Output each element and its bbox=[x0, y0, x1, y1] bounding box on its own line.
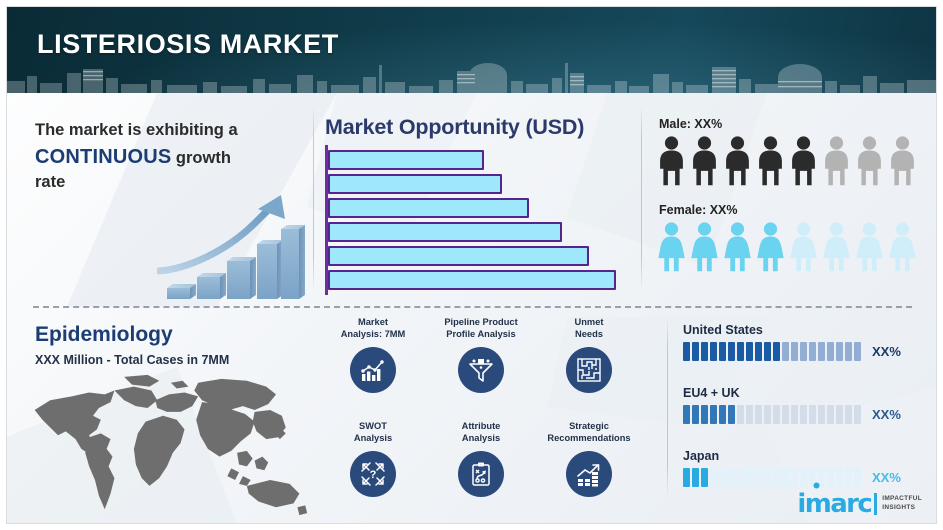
region-japan: JapanXX% bbox=[683, 449, 933, 487]
bar-segment bbox=[827, 405, 834, 424]
region-name: Japan bbox=[683, 449, 933, 463]
female-pictogram-row bbox=[655, 221, 919, 273]
bar-segment bbox=[755, 468, 762, 487]
bar-segment bbox=[764, 468, 771, 487]
male-figure-icon bbox=[787, 135, 820, 187]
service-unmet-needs[interactable]: UnmetNeeds bbox=[535, 317, 643, 393]
bar-segment bbox=[764, 342, 771, 361]
clipboard-strategy-icon bbox=[458, 451, 504, 497]
region-bars-group: United StatesXX%EU4 + UKXX%JapanXX% bbox=[683, 323, 933, 513]
bar-segment bbox=[746, 405, 753, 424]
segmented-bar bbox=[683, 468, 861, 487]
bar-segment bbox=[701, 468, 708, 487]
bar-segment bbox=[854, 342, 861, 361]
bar-segment bbox=[746, 342, 753, 361]
bar-segment bbox=[728, 342, 735, 361]
region-name: United States bbox=[683, 323, 933, 337]
bar-segment bbox=[782, 405, 789, 424]
lower-section: Epidemiology XXX Million - Total Cases i… bbox=[7, 309, 937, 524]
bar-segment bbox=[692, 405, 699, 424]
male-figure-icon bbox=[853, 135, 886, 187]
male-label: Male: XX% bbox=[659, 117, 722, 131]
bar-segment bbox=[737, 405, 744, 424]
service-label-line2: Analysis bbox=[462, 433, 500, 443]
female-figure-icon bbox=[655, 221, 688, 273]
bar-segment bbox=[791, 405, 798, 424]
service-swot-analysis[interactable]: SWOTAnalysis bbox=[319, 421, 427, 497]
bar-segment bbox=[692, 468, 699, 487]
service-label-line1: SWOT bbox=[359, 421, 387, 431]
logo-tagline-line1: IMPACTFUL bbox=[882, 495, 922, 502]
region-percent: XX% bbox=[872, 470, 901, 485]
bar-segment bbox=[773, 405, 780, 424]
bar-segment bbox=[773, 342, 780, 361]
female-figure-icon bbox=[688, 221, 721, 273]
bar-segment bbox=[818, 342, 825, 361]
service-label-line2: Profile Analysis bbox=[446, 329, 515, 339]
bar-segment bbox=[845, 468, 852, 487]
female-figure-icon bbox=[820, 221, 853, 273]
region-bar-row: XX% bbox=[683, 468, 933, 487]
bar-segment bbox=[719, 468, 726, 487]
male-figure-icon bbox=[754, 135, 787, 187]
funnel-icon bbox=[458, 347, 504, 393]
bar-segment bbox=[737, 342, 744, 361]
service-market-analysis[interactable]: MarketAnalysis: 7MM bbox=[319, 317, 427, 393]
female-label: Female: XX% bbox=[659, 203, 738, 217]
logo-tagline: IMPACTFUL INSIGHTS bbox=[882, 495, 922, 513]
tagline-line1: The market is exhibiting a bbox=[35, 121, 238, 139]
bar-segment bbox=[683, 405, 690, 424]
header-banner: LISTERIOSIS MARKET bbox=[7, 7, 937, 93]
female-figure-icon bbox=[853, 221, 886, 273]
tagline-line2: rate bbox=[35, 173, 65, 191]
region-name: EU4 + UK bbox=[683, 386, 933, 400]
chart-bar bbox=[328, 174, 502, 194]
upper-divider-2 bbox=[641, 105, 642, 291]
bar-segment bbox=[845, 342, 852, 361]
bar-segment bbox=[854, 468, 861, 487]
bar-segment bbox=[728, 405, 735, 424]
female-figure-icon bbox=[721, 221, 754, 273]
chart-bar bbox=[328, 198, 529, 218]
upper-section: The market is exhibiting a CONTINUOUS gr… bbox=[7, 93, 937, 306]
service-label-line1: Attribute bbox=[462, 421, 501, 431]
bar-segment bbox=[836, 342, 843, 361]
bar-segment bbox=[737, 468, 744, 487]
female-figure-icon bbox=[886, 221, 919, 273]
bar-segment bbox=[692, 342, 699, 361]
logo-wordmark: imarc bbox=[797, 491, 871, 517]
bar-segment bbox=[719, 342, 726, 361]
service-attribute-analysis[interactable]: AttributeAnalysis bbox=[427, 421, 535, 497]
svg-text:?: ? bbox=[370, 469, 377, 481]
bar-segment bbox=[818, 405, 825, 424]
bar-segment bbox=[800, 468, 807, 487]
bar-segment bbox=[710, 405, 717, 424]
bar-segment bbox=[800, 405, 807, 424]
bar-segment bbox=[827, 468, 834, 487]
infographic-page: LISTERIOSIS MARKET The market is exhibit… bbox=[0, 0, 943, 530]
bar-segment bbox=[782, 342, 789, 361]
market-opportunity-title: Market Opportunity (USD) bbox=[325, 115, 584, 140]
bar-segment bbox=[791, 342, 798, 361]
epidemiology-title: Epidemiology bbox=[35, 323, 173, 347]
region-bar-row: XX% bbox=[683, 342, 933, 361]
service-label-line2: Recommendations bbox=[547, 433, 630, 443]
market-opportunity-chart bbox=[325, 145, 625, 295]
region-eu4-uk: EU4 + UKXX% bbox=[683, 386, 933, 424]
lower-divider-1 bbox=[667, 317, 668, 497]
chart-bar bbox=[328, 150, 484, 170]
bar-segment bbox=[755, 342, 762, 361]
female-figure-icon bbox=[787, 221, 820, 273]
growth-chart-3d-icon bbox=[157, 189, 307, 301]
male-figure-icon bbox=[655, 135, 688, 187]
bar-segment bbox=[683, 342, 690, 361]
service-label-line1: Pipeline Product bbox=[444, 317, 517, 327]
chart-bar bbox=[328, 246, 589, 266]
chart-bar bbox=[328, 270, 616, 290]
bar-segment bbox=[710, 342, 717, 361]
infographic-card: LISTERIOSIS MARKET The market is exhibit… bbox=[6, 6, 937, 524]
bar-segment bbox=[800, 342, 807, 361]
segmented-bar bbox=[683, 405, 861, 424]
bar-segment bbox=[827, 342, 834, 361]
region-percent: XX% bbox=[872, 344, 901, 359]
bar-segment bbox=[836, 468, 843, 487]
region-bar-row: XX% bbox=[683, 405, 933, 424]
imarc-logo: imarc IMPACTFUL INSIGHTS bbox=[797, 491, 922, 517]
male-pictogram-row bbox=[655, 135, 919, 187]
bar-segment bbox=[746, 468, 753, 487]
tagline-line1b: growth bbox=[176, 149, 231, 167]
service-label-line2: Analysis bbox=[354, 433, 392, 443]
epidemiology-subtitle: XXX Million - Total Cases in 7MM bbox=[35, 353, 229, 367]
bar-segment bbox=[809, 342, 816, 361]
swot-arrows-icon: ? bbox=[350, 451, 396, 497]
male-figure-icon bbox=[721, 135, 754, 187]
bar-segment bbox=[782, 468, 789, 487]
service-pipeline-product-profile[interactable]: Pipeline ProductProfile Analysis bbox=[427, 317, 535, 393]
logo-tagline-line2: INSIGHTS bbox=[882, 504, 915, 511]
service-label-line1: Unmet bbox=[575, 317, 604, 327]
service-label-line2: Analysis: 7MM bbox=[341, 329, 406, 339]
bar-segment bbox=[728, 468, 735, 487]
male-figure-icon bbox=[688, 135, 721, 187]
segmented-bar bbox=[683, 342, 861, 361]
tagline-block: The market is exhibiting a CONTINUOUS gr… bbox=[35, 119, 295, 195]
maze-icon bbox=[566, 347, 612, 393]
bar-segment bbox=[773, 468, 780, 487]
logo-dot-icon bbox=[813, 482, 820, 489]
bar-segment bbox=[683, 468, 690, 487]
logo-divider-bar bbox=[874, 493, 877, 515]
world-map-icon bbox=[21, 371, 313, 519]
growth-chart-arrow-icon bbox=[566, 451, 612, 497]
bar-segment bbox=[809, 405, 816, 424]
bar-segment bbox=[755, 405, 762, 424]
service-strategic-recommendations[interactable]: StrategicRecommendations bbox=[535, 421, 643, 497]
region-united-states: United StatesXX% bbox=[683, 323, 933, 361]
bar-segment bbox=[710, 468, 717, 487]
bar-segment bbox=[701, 405, 708, 424]
bar-segment bbox=[854, 405, 861, 424]
female-figure-icon bbox=[754, 221, 787, 273]
bar-segment bbox=[764, 405, 771, 424]
male-figure-icon bbox=[886, 135, 919, 187]
bar-chart-trend-icon bbox=[350, 347, 396, 393]
tagline-highlight: CONTINUOUS bbox=[35, 146, 171, 168]
bar-segment bbox=[791, 468, 798, 487]
page-title: LISTERIOSIS MARKET bbox=[37, 29, 339, 60]
services-icon-grid: MarketAnalysis: 7MM bbox=[319, 317, 651, 523]
upper-divider-1 bbox=[313, 105, 314, 291]
region-percent: XX% bbox=[872, 407, 901, 422]
service-label-line1: Strategic bbox=[569, 421, 609, 431]
section-divider bbox=[33, 306, 912, 308]
service-label-line1: Market bbox=[358, 317, 388, 327]
male-figure-icon bbox=[820, 135, 853, 187]
bar-segment bbox=[701, 342, 708, 361]
bar-segment bbox=[836, 405, 843, 424]
bar-segment bbox=[845, 405, 852, 424]
chart-bar bbox=[328, 222, 562, 242]
service-label-line2: Needs bbox=[575, 329, 603, 339]
bar-segment bbox=[719, 405, 726, 424]
